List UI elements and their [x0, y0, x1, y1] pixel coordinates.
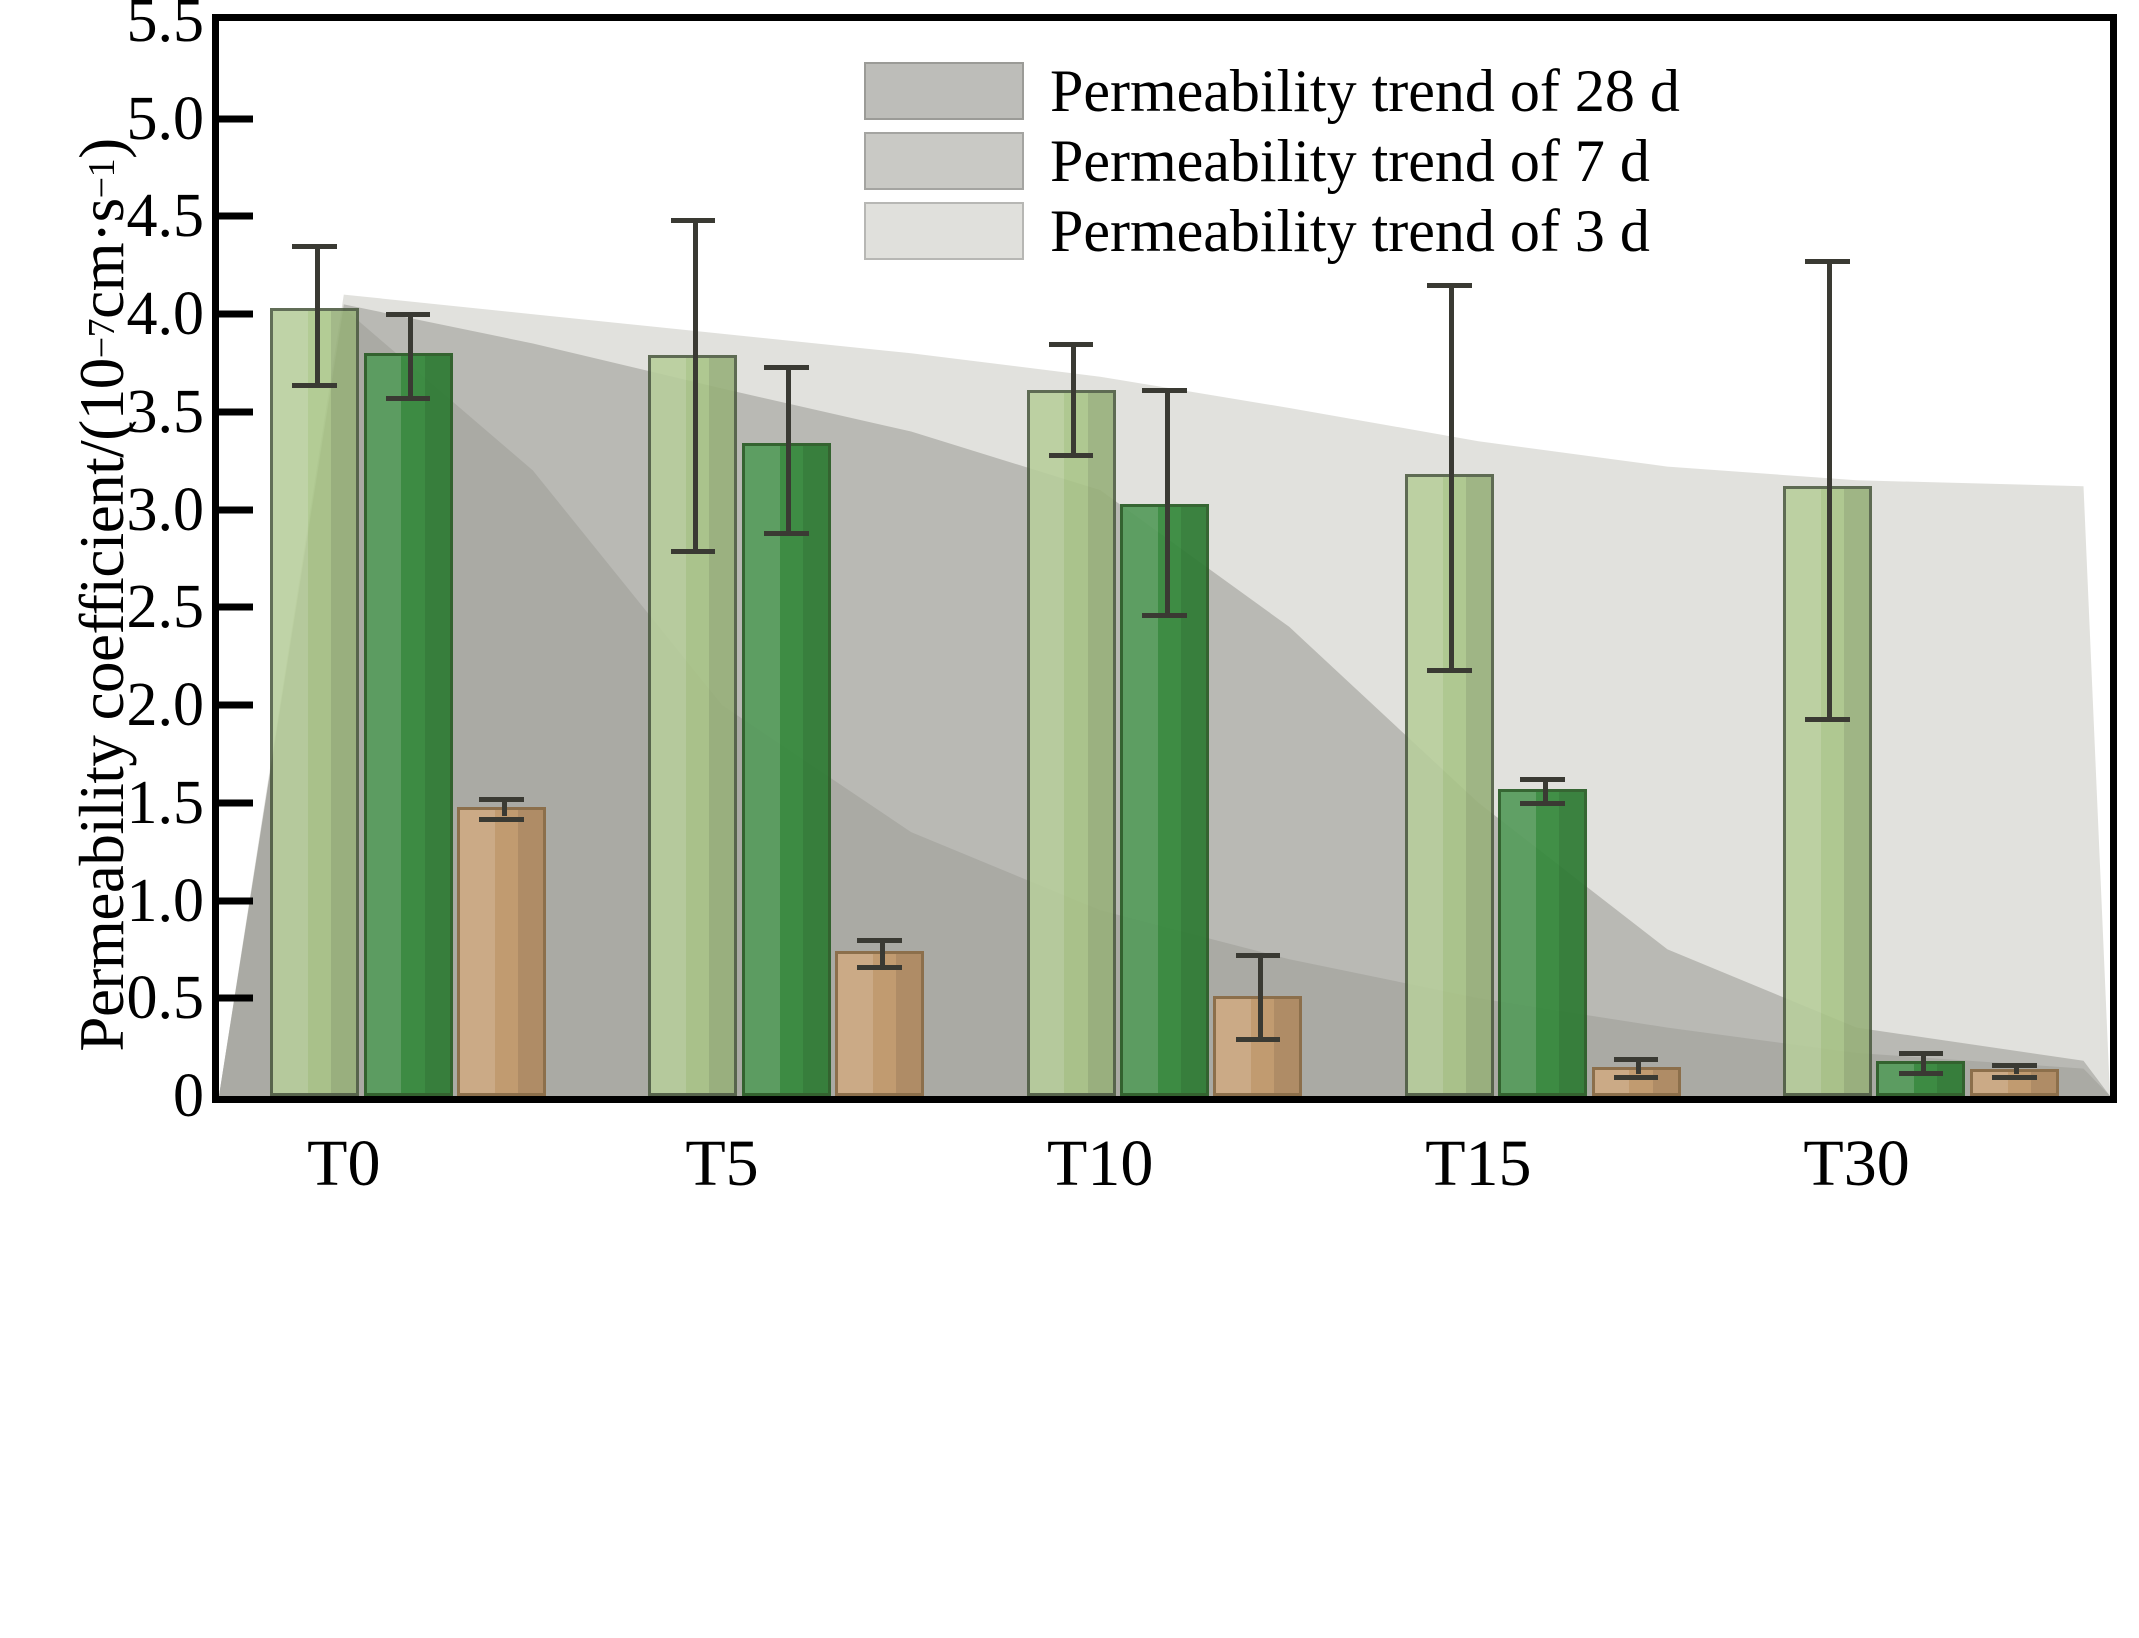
y-tick-label: 5.0: [24, 88, 204, 150]
bar-shade: [1937, 1064, 1962, 1093]
error-bar-cap-lower: [1427, 668, 1471, 673]
y-tickmark: [219, 995, 253, 1002]
bar-shade: [518, 810, 543, 1093]
error-bar-cap-lower: [764, 531, 808, 536]
bar-highlight: [838, 954, 873, 1093]
error-bar-cap-upper: [671, 218, 715, 223]
bar-highlight: [1786, 489, 1821, 1093]
legend-label: Permeability trend of 3 d: [1050, 201, 1650, 261]
legend-item-0[interactable]: Permeability trend of 28 d: [864, 57, 1680, 125]
y-tickmark: [219, 311, 253, 318]
bar-T5-7d: [742, 443, 831, 1096]
bar-T10-3d: [1027, 390, 1116, 1096]
bar-shade: [1653, 1070, 1678, 1093]
x-tick-label-T15: T15: [1425, 1126, 1531, 1202]
bar-shade: [709, 358, 734, 1093]
legend-swatch-icon: [864, 132, 1024, 190]
y-tick-label: 1.0: [24, 870, 204, 932]
bar-highlight: [1216, 999, 1251, 1093]
y-tick-label: 5.5: [24, 0, 204, 52]
bar-T0-3d: [270, 308, 359, 1096]
y-tick-label: 3.5: [24, 381, 204, 443]
error-bar-cap-lower: [1142, 613, 1186, 618]
error-bar-cap-lower: [1614, 1075, 1658, 1080]
bar-highlight: [1501, 792, 1536, 1093]
y-tick-label: 0: [24, 1065, 204, 1127]
error-bar-cap-upper: [1899, 1051, 1943, 1056]
y-tickmark: [219, 213, 253, 220]
error-bar-cap-upper: [1427, 283, 1471, 288]
bar-shade: [1559, 792, 1584, 1093]
error-bar-cap-upper: [386, 312, 430, 317]
y-tickmark: [219, 702, 253, 709]
error-bar-cap-upper: [857, 938, 901, 943]
bar-highlight: [367, 356, 402, 1093]
bar-highlight: [460, 810, 495, 1093]
error-bar-cap-lower: [1520, 801, 1564, 806]
legend-swatch-icon: [864, 202, 1024, 260]
legend-item-2[interactable]: Permeability trend of 3 d: [864, 197, 1680, 265]
error-bar-cap-lower: [1236, 1037, 1280, 1042]
bar-shade: [1274, 999, 1299, 1093]
figure-root: Permeability coefficient/(10−7 cm·s−1) 0…: [0, 0, 2139, 1638]
error-bar-line: [693, 218, 698, 548]
bar-shade: [331, 311, 356, 1093]
error-bar-cap-lower: [386, 396, 430, 401]
bar-shade: [425, 356, 450, 1093]
error-bar-cap-upper: [764, 365, 808, 370]
bar-highlight: [745, 446, 780, 1093]
y-tickmark: [219, 506, 253, 513]
error-bar-cap-upper: [1992, 1063, 2036, 1068]
bar-shade: [803, 446, 828, 1093]
bar-shade: [1181, 507, 1206, 1093]
y-tickmark: [219, 604, 253, 611]
y-tick-label: 4.5: [24, 185, 204, 247]
legend-swatch-icon: [864, 62, 1024, 120]
legend-item-1[interactable]: Permeability trend of 7 d: [864, 127, 1680, 195]
error-bar-line: [786, 365, 791, 531]
y-tick-label: 3.0: [24, 479, 204, 541]
y-tick-label: 1.5: [24, 772, 204, 834]
error-bar-cap-upper: [1614, 1057, 1658, 1062]
bar-shade: [1844, 489, 1869, 1093]
error-bar-line: [1449, 283, 1454, 668]
error-bar-cap-lower: [479, 817, 523, 822]
bar-highlight: [273, 311, 308, 1093]
error-bar-cap-upper: [1049, 342, 1093, 347]
y-tick-label: 2.0: [24, 674, 204, 736]
error-bar-cap-lower: [292, 383, 336, 388]
y-tick-label: 0.5: [24, 967, 204, 1029]
error-bar-cap-upper: [1805, 259, 1849, 264]
bar-highlight: [1879, 1064, 1914, 1093]
bar-shade: [896, 954, 921, 1093]
bar-highlight: [1595, 1070, 1630, 1093]
bar-highlight: [1408, 477, 1443, 1093]
error-bar-cap-lower: [1049, 453, 1093, 458]
error-bar-cap-lower: [671, 549, 715, 554]
error-bar-cap-lower: [1899, 1071, 1943, 1076]
bar-shade: [1088, 393, 1113, 1093]
bar-highlight: [651, 358, 686, 1093]
y-tickmark: [219, 799, 253, 806]
y-tick-label: 2.5: [24, 576, 204, 638]
x-tick-label-T30: T30: [1803, 1126, 1909, 1202]
x-tick-label-T10: T10: [1047, 1126, 1153, 1202]
error-bar-cap-lower: [857, 965, 901, 970]
bar-T0-7d: [364, 353, 453, 1096]
y-axis-tick-labels: 00.51.01.52.02.53.03.54.04.55.05.5: [0, 0, 204, 1638]
error-bar-cap-upper: [1142, 388, 1186, 393]
x-tick-label-T0: T0: [307, 1126, 380, 1202]
error-bar-cap-upper: [479, 797, 523, 802]
legend-label: Permeability trend of 7 d: [1050, 131, 1650, 191]
error-bar-line: [1827, 259, 1832, 716]
y-tickmark: [219, 408, 253, 415]
error-bar-cap-upper: [1236, 953, 1280, 958]
error-bar-line: [1258, 953, 1263, 1037]
y-tickmark: [219, 115, 253, 122]
bar-T0-28d: [457, 807, 546, 1096]
bar-highlight: [1030, 393, 1065, 1093]
x-tick-label-T5: T5: [685, 1126, 758, 1202]
y-tick-label: 4.0: [24, 283, 204, 345]
legend-label: Permeability trend of 28 d: [1050, 61, 1680, 121]
bar-highlight: [1123, 507, 1158, 1093]
bar-T5-28d: [835, 951, 924, 1096]
error-bar-cap-upper: [1520, 777, 1564, 782]
error-bar-line: [1071, 342, 1076, 453]
plot-area: Permeability trend of 28 dPermeability t…: [212, 14, 2117, 1103]
error-bar-line: [408, 312, 413, 396]
error-bar-line: [1165, 388, 1170, 613]
bar-shade: [1466, 477, 1491, 1093]
bar-T15-7d: [1498, 789, 1587, 1096]
error-bar-cap-lower: [1805, 717, 1849, 722]
error-bar-cap-lower: [1992, 1075, 2036, 1080]
legend: Permeability trend of 28 dPermeability t…: [864, 57, 1680, 267]
error-bar-line: [315, 244, 320, 383]
error-bar-cap-upper: [292, 244, 336, 249]
y-tickmark: [219, 897, 253, 904]
